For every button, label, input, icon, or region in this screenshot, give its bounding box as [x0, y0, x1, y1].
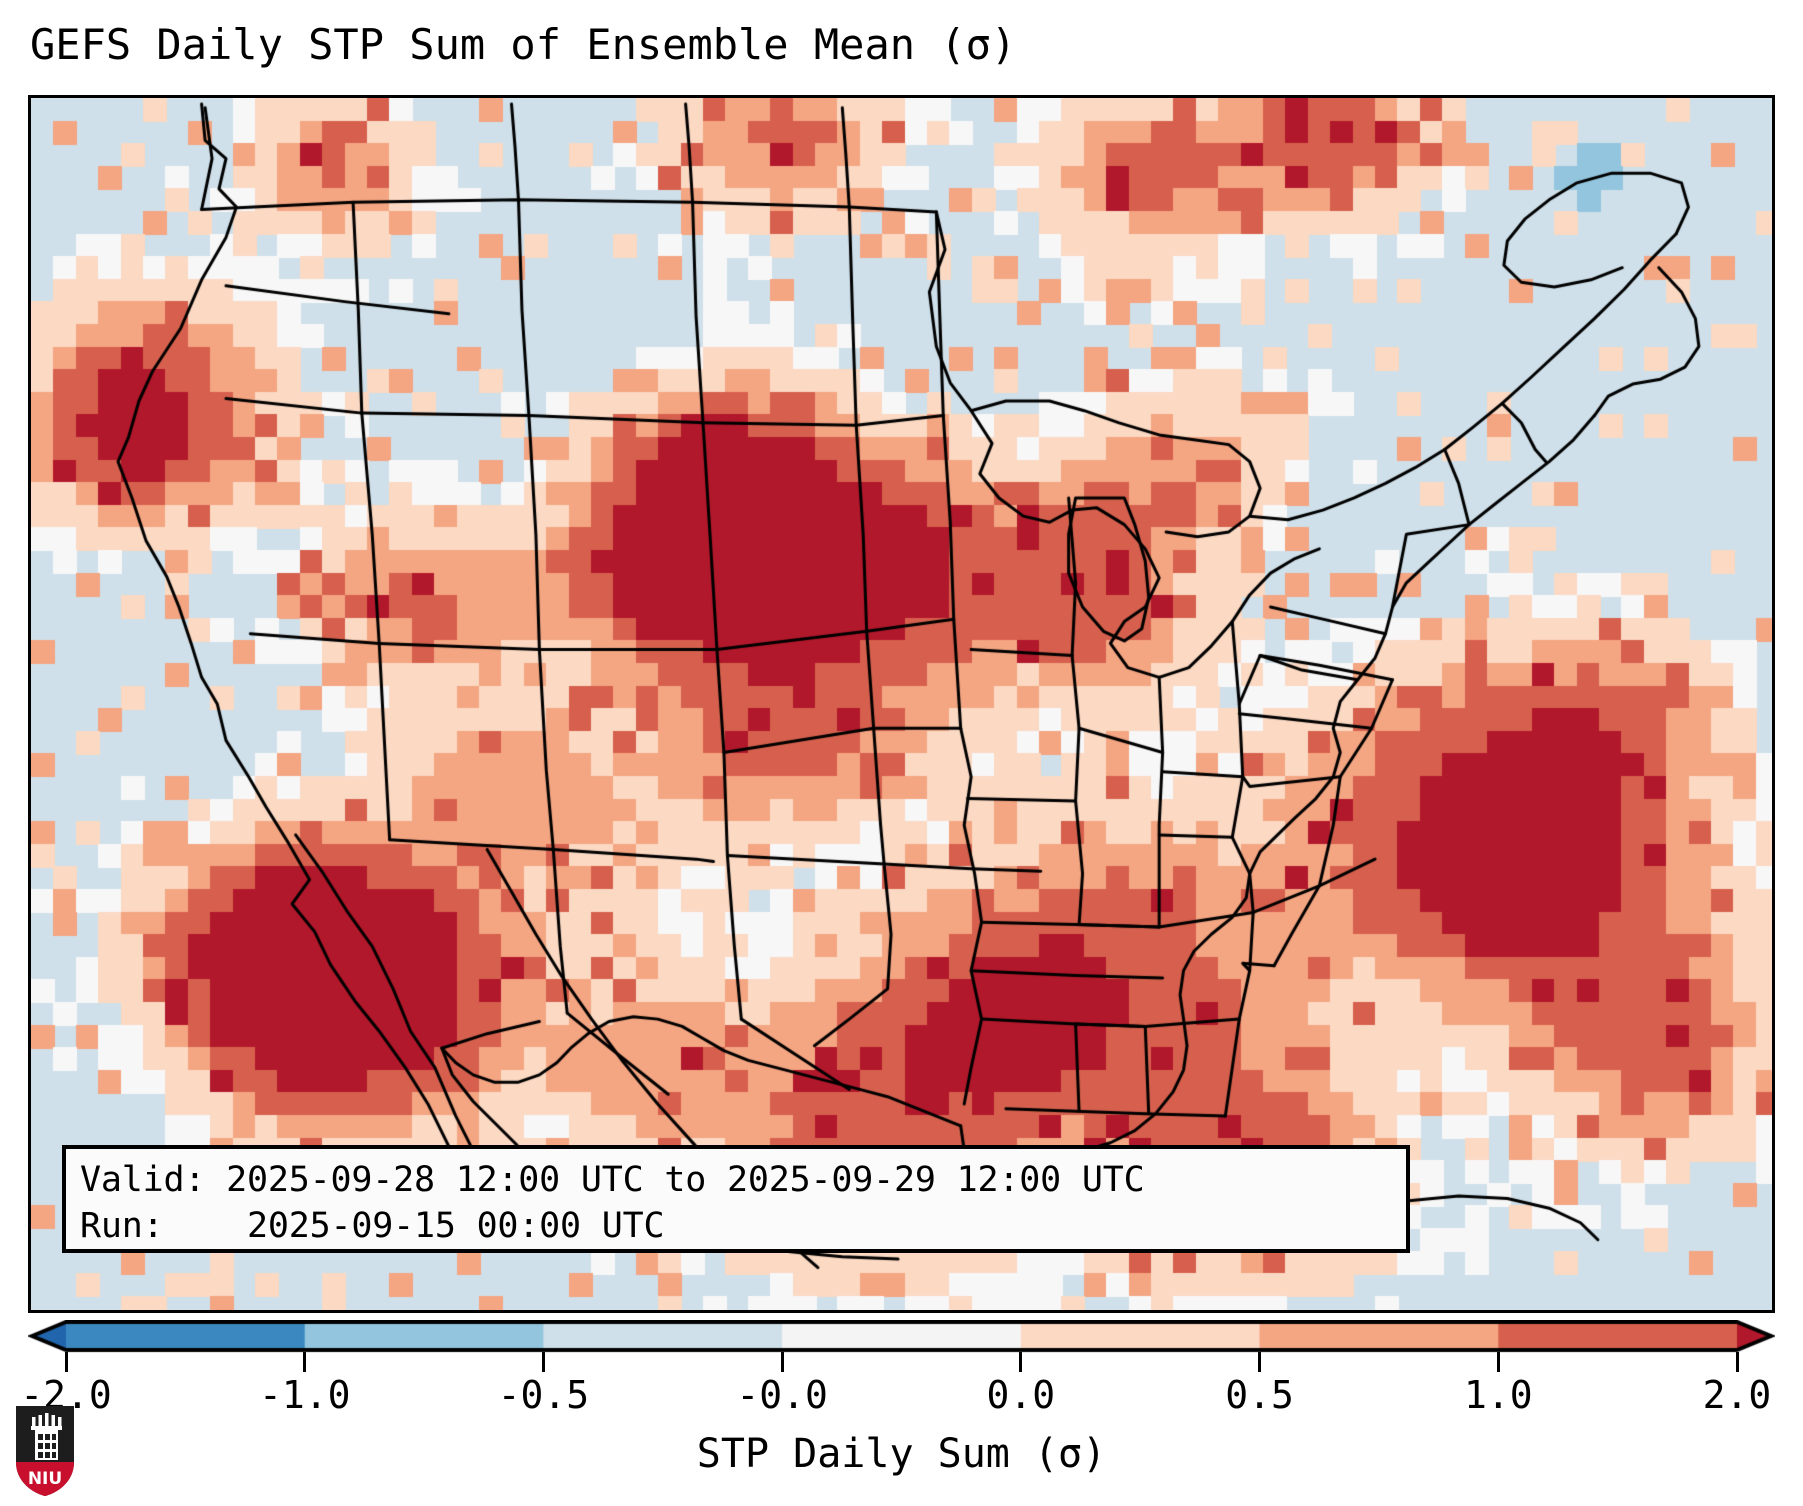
colorbar-ticks — [28, 1352, 1775, 1374]
colorbar-tick — [303, 1352, 306, 1372]
colorbar-tick — [1258, 1352, 1261, 1372]
colorbar-tick-labels: -2.0-1.0-0.5-0.00.00.51.02.0 — [28, 1372, 1775, 1418]
svg-text:NIU: NIU — [28, 1469, 62, 1489]
colorbar-tick-label: -0.0 — [736, 1372, 828, 1418]
colorbar-tick — [542, 1352, 545, 1372]
colorbar-tick — [781, 1352, 784, 1372]
colorbar-tick-label: -1.0 — [259, 1372, 351, 1418]
colorbar-tick — [1019, 1352, 1022, 1372]
niu-logo-icon: NIU — [14, 1404, 76, 1498]
colorbar-tick — [1497, 1352, 1500, 1372]
colorbar-tick-label: 0.5 — [1225, 1372, 1294, 1418]
page-title: GEFS Daily STP Sum of Ensemble Mean (σ) — [30, 18, 1016, 72]
annotation-box: Valid: 2025-09-28 12:00 UTC to 2025-09-2… — [62, 1145, 1410, 1253]
colorbar-tick-label: -0.5 — [498, 1372, 590, 1418]
colorbar-axis-label: STP Daily Sum (σ) — [0, 1428, 1803, 1480]
figure-canvas: GEFS Daily STP Sum of Ensemble Mean (σ) … — [0, 0, 1803, 1506]
run-time-line: Run: 2025-09-15 00:00 UTC — [80, 1203, 1392, 1249]
colorbar-tick-label: 2.0 — [1703, 1372, 1772, 1418]
colorbar-tick — [1736, 1352, 1739, 1372]
colorbar-tick-label: 1.0 — [1464, 1372, 1533, 1418]
map-axes[interactable] — [28, 95, 1775, 1313]
stp-heatmap[interactable] — [31, 98, 1772, 1310]
colorbar-tick-label: 0.0 — [987, 1372, 1056, 1418]
valid-time-line: Valid: 2025-09-28 12:00 UTC to 2025-09-2… — [80, 1157, 1392, 1203]
colorbar-tick — [65, 1352, 68, 1372]
